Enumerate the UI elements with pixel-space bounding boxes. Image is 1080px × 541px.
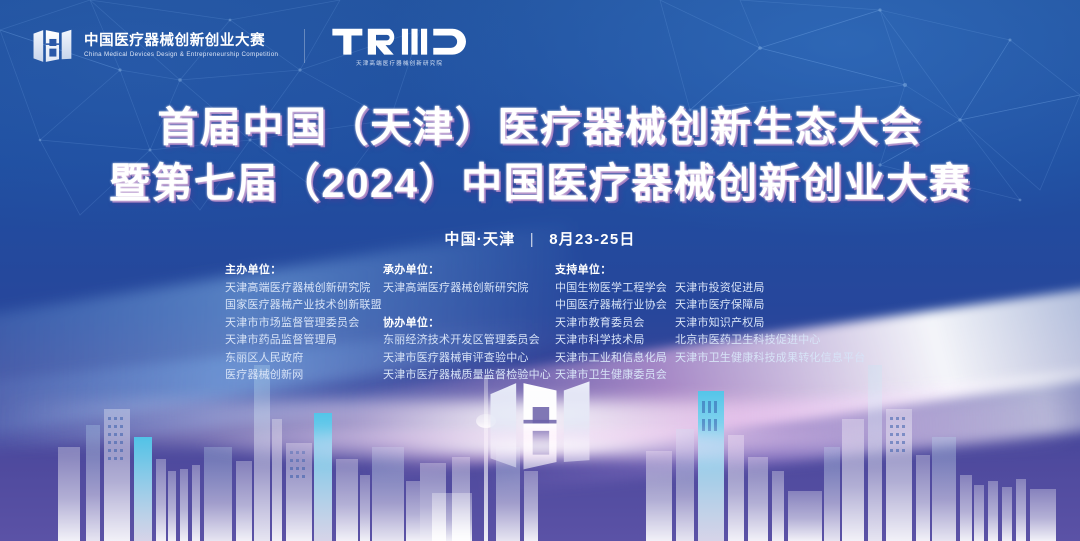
organizer-heading: 主办单位： (225, 262, 383, 280)
organizer-item: 天津市科学技术局 (555, 332, 675, 350)
organizer-item: 天津市投资促进局 (675, 280, 865, 298)
event-poster: 中国医疗器械创新创业大赛 China Medical Devices Desig… (0, 0, 1080, 541)
organizer-column-organizer: 承办单位： 天津高端医疗器械创新研究院 协办单位： 东丽经济技术开发区管理委员会… (383, 262, 555, 385)
organizer-column-support: 支持单位： 中国生物医学工程学会 中国医疗器械行业协会 天津市教育委员会 天津市… (555, 262, 675, 385)
triid-wordmark-icon (331, 26, 467, 56)
date-location-bar: 中国·天津 | 8月23-25日 (0, 228, 1080, 249)
organizer-item: 中国生物医学工程学会 (555, 280, 675, 298)
open-door-logo-icon (30, 24, 74, 68)
organizer-column-host: 主办单位： 天津高端医疗器械创新研究院 国家医疗器械产业技术创新联盟 天津市市场… (225, 262, 383, 385)
organizer-spacer (383, 297, 555, 315)
organizer-heading: 协办单位： (383, 315, 555, 333)
organizer-item: 天津市教育委员会 (555, 315, 675, 333)
organizer-item: 天津高端医疗器械创新研究院 (383, 280, 555, 298)
organizer-spacer (675, 262, 865, 280)
organizer-item: 天津市知识产权局 (675, 315, 865, 333)
organizer-item: 天津市医疗器械审评查验中心 (383, 350, 555, 368)
organizer-item: 天津市工业和信息化局 (555, 350, 675, 368)
organizer-list: 主办单位： 天津高端医疗器械创新研究院 国家医疗器械产业技术创新联盟 天津市市场… (225, 262, 865, 385)
organizer-item: 中国医疗器械行业协会 (555, 297, 675, 315)
triid-brand: 天津高端医疗器械创新研究院 (331, 26, 467, 67)
organizer-item: 医疗器械创新网 (225, 367, 383, 385)
organizer-heading: 承办单位： (383, 262, 555, 280)
event-location: 中国·天津 (444, 231, 515, 248)
header-logos: 中国医疗器械创新创业大赛 China Medical Devices Desig… (30, 24, 468, 68)
organizer-item: 天津高端医疗器械创新研究院 (225, 280, 383, 298)
organizer-item: 天津市市场监督管理委员会 (225, 315, 383, 333)
page-title: 首届中国（天津）医疗器械创新生态大会 暨第七届（2024）中国医疗器械创新创业大… (0, 100, 1080, 212)
brand-cn-name: 中国医疗器械创新创业大赛 (84, 34, 278, 50)
organizer-heading: 支持单位： (555, 262, 675, 280)
organizer-item: 国家医疗器械产业技术创新联盟 (225, 297, 383, 315)
title-line-1: 首届中国（天津）医疗器械创新生态大会 (0, 100, 1080, 156)
organizer-item: 北京市医药卫生科技促进中心 (675, 332, 865, 350)
brand-en-name: China Medical Devices Design & Entrepren… (84, 52, 278, 59)
header-divider (304, 29, 305, 63)
center-open-door-logo-icon (485, 374, 595, 484)
organizer-item: 天津市医疗器械质量监督检验中心 (383, 367, 555, 385)
organizer-item: 东丽经济技术开发区管理委员会 (383, 332, 555, 350)
triid-cn-name: 天津高端医疗器械创新研究院 (356, 59, 443, 67)
organizer-item: 东丽区人民政府 (225, 350, 383, 368)
title-line-2: 暨第七届（2024）中国医疗器械创新创业大赛 (0, 156, 1080, 212)
organizer-item: 天津市药品监督管理局 (225, 332, 383, 350)
datebar-separator: | (530, 231, 535, 248)
event-dates: 8月23-25日 (549, 231, 635, 248)
organizer-item: 天津市卫生健康委员会 (555, 367, 675, 385)
organizer-column-support-continued: 天津市投资促进局 天津市医疗保障局 天津市知识产权局 北京市医药卫生科技促进中心… (675, 262, 865, 367)
organizer-item: 天津市医疗保障局 (675, 297, 865, 315)
organizer-item: 天津市卫生健康科技成果转化信息平台 (675, 350, 865, 368)
competition-brand: 中国医疗器械创新创业大赛 China Medical Devices Desig… (30, 24, 278, 68)
